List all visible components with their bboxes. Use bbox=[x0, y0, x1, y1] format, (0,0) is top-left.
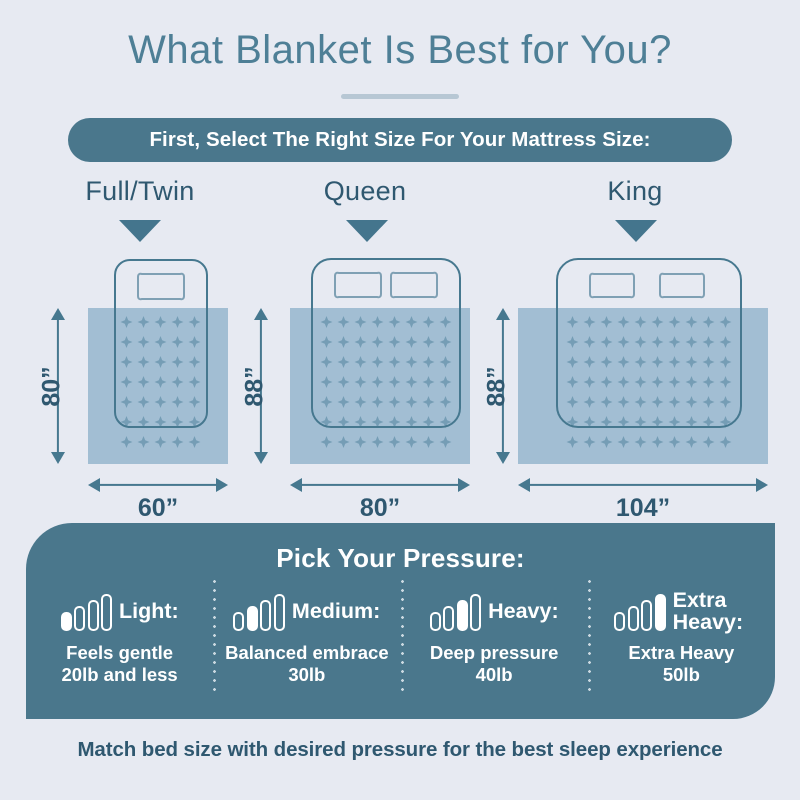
pressure-desc-line1: Feels gentle 20lb and less bbox=[62, 642, 178, 686]
dimension-width-label-queen: 80” bbox=[290, 494, 470, 523]
bed-sizes-row: Full/Twin bbox=[0, 176, 800, 516]
dimension-height-label-king: 88” bbox=[483, 352, 512, 422]
pressure-desc-extra-heavy: Extra Heavy 50lb bbox=[628, 642, 734, 686]
pressure-desc-line1: Balanced embrace 30lb bbox=[225, 642, 389, 686]
pressure-label-heavy: Heavy: bbox=[488, 601, 559, 623]
signal-bars-icon bbox=[614, 594, 666, 631]
pressure-panel: Pick Your Pressure: Light: Feels gentle … bbox=[26, 523, 775, 719]
pressure-title: Pick Your Pressure: bbox=[26, 543, 775, 574]
down-triangle-icon bbox=[615, 220, 657, 242]
pillow-icon-king-left bbox=[586, 271, 638, 300]
bed-card-queen[interactable]: Queen 88 bbox=[245, 176, 505, 516]
bed-label-full-twin: Full/Twin bbox=[30, 176, 250, 207]
down-triangle-icon bbox=[119, 220, 161, 242]
signal-bars-icon bbox=[61, 594, 113, 631]
infographic-page: What Blanket Is Best for You? First, Sel… bbox=[0, 0, 800, 800]
pressure-level-light[interactable]: Light: Feels gentle 20lb and less bbox=[26, 589, 213, 686]
pressure-level-extra-heavy[interactable]: Extra Heavy: Extra Heavy 50lb bbox=[588, 589, 775, 686]
dimension-width-label-king: 104” bbox=[518, 494, 768, 523]
title-divider bbox=[341, 94, 459, 99]
bed-card-king[interactable]: King 88” bbox=[490, 176, 790, 516]
pressure-desc-heavy: Deep pressure 40lb bbox=[430, 642, 559, 686]
pressure-desc-line1: Extra Heavy 50lb bbox=[628, 642, 734, 686]
pillow-icon-full-twin bbox=[134, 271, 188, 302]
pressure-label-medium: Medium: bbox=[292, 601, 380, 623]
page-title: What Blanket Is Best for You? bbox=[0, 28, 800, 73]
pillow-icon-queen-left bbox=[331, 270, 385, 300]
pressure-label-light: Light: bbox=[119, 601, 179, 623]
pressure-desc-line1: Deep pressure 40lb bbox=[430, 642, 559, 686]
footer-text: Match bed size with desired pressure for… bbox=[0, 738, 800, 762]
signal-bars-icon bbox=[233, 594, 285, 631]
dimension-width-label-full-twin: 60” bbox=[88, 494, 228, 523]
size-banner-label: First, Select The Right Size For Your Ma… bbox=[149, 128, 650, 152]
pressure-desc-medium: Balanced embrace 30lb bbox=[225, 642, 389, 686]
pressure-level-medium[interactable]: Medium: Balanced embrace 30lb bbox=[213, 589, 400, 686]
pillow-icon-king-right bbox=[656, 271, 708, 300]
size-banner: First, Select The Right Size For Your Ma… bbox=[68, 118, 732, 162]
dimension-height-label-queen: 88” bbox=[241, 352, 270, 422]
mattress-outline-king bbox=[556, 258, 742, 428]
pressure-label-extra-heavy: Extra Heavy: bbox=[673, 590, 749, 634]
bed-card-full-twin[interactable]: Full/Twin bbox=[30, 176, 250, 516]
down-triangle-icon bbox=[346, 220, 388, 242]
signal-bars-icon bbox=[430, 594, 482, 631]
pressure-levels-list: Light: Feels gentle 20lb and less Medium… bbox=[26, 589, 775, 686]
bed-label-queen: Queen bbox=[255, 176, 475, 207]
pillow-icon-queen-right bbox=[387, 270, 441, 300]
bed-label-king: King bbox=[510, 176, 760, 207]
dimension-height-label-full-twin: 80” bbox=[38, 352, 67, 422]
pressure-desc-light: Feels gentle 20lb and less bbox=[62, 642, 178, 686]
pressure-level-heavy[interactable]: Heavy: Deep pressure 40lb bbox=[401, 589, 588, 686]
